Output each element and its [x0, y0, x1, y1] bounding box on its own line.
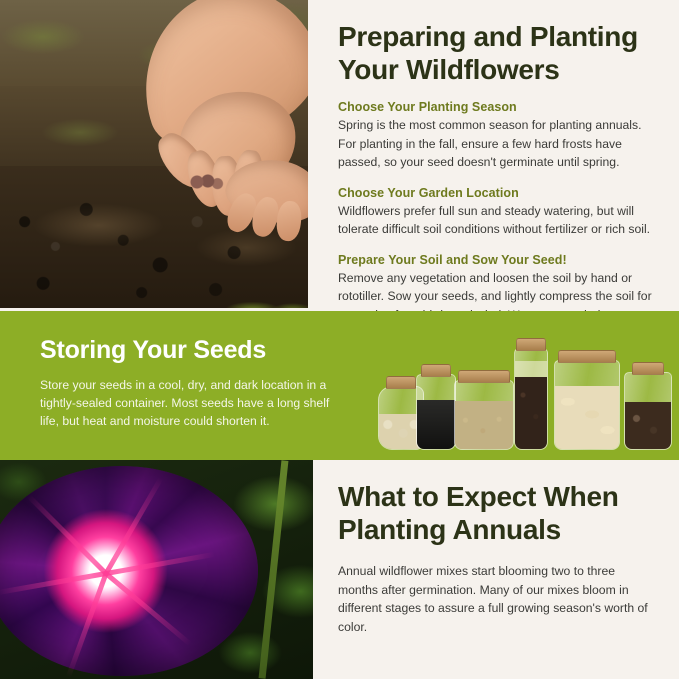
cork-stopper-icon — [516, 338, 546, 351]
seed-jar — [454, 370, 514, 450]
section-what-to-expect: What to Expect When Planting Annuals Ann… — [0, 460, 679, 679]
seed-jar — [514, 338, 548, 450]
subhead-garden-location: Choose Your Garden Location — [338, 186, 655, 200]
seed-jar — [624, 362, 672, 450]
cork-stopper-icon — [632, 362, 664, 375]
body-planting-season: Spring is the most common season for pla… — [338, 116, 655, 172]
petal-ray — [26, 494, 107, 575]
section-storing-your-seeds: Storing Your Seeds Store your seeds in a… — [0, 311, 679, 460]
cork-stopper-icon — [458, 370, 510, 383]
glass-jars-of-seeds-photo — [378, 334, 665, 450]
section-preparing-and-planting: Preparing and Planting Your Wildflowers … — [0, 0, 679, 311]
preparing-text-column: Preparing and Planting Your Wildflowers … — [338, 0, 679, 311]
petal-ray — [66, 573, 108, 678]
expect-text-column: What to Expect When Planting Annuals Ann… — [338, 460, 679, 636]
petal-ray — [0, 571, 106, 595]
hand-sowing-seeds-in-soil-photo — [0, 0, 308, 308]
petal-ray — [104, 572, 191, 647]
cork-stopper-icon — [558, 350, 616, 363]
grass-blades — [0, 284, 308, 308]
storing-title: Storing Your Seeds — [40, 337, 340, 365]
storing-body: Store your seeds in a cool, dry, and dar… — [40, 376, 340, 431]
cork-stopper-icon — [421, 364, 451, 377]
petal-ray — [105, 552, 214, 576]
infographic-page: Preparing and Planting Your Wildflowers … — [0, 0, 679, 679]
purple-morning-glory-flower-photo — [0, 460, 313, 679]
expect-body: Annual wildflower mixes start blooming t… — [338, 562, 655, 636]
seed-jar — [554, 350, 620, 450]
seeds-in-hand — [188, 172, 224, 192]
seed-jar — [416, 364, 456, 450]
preparing-title: Preparing and Planting Your Wildflowers — [338, 20, 655, 86]
storing-text-column: Storing Your Seeds Store your seeds in a… — [40, 337, 340, 430]
cork-stopper-icon — [386, 376, 416, 389]
expect-title: What to Expect When Planting Annuals — [338, 480, 655, 546]
subhead-planting-season: Choose Your Planting Season — [338, 100, 655, 114]
subhead-prepare-soil: Prepare Your Soil and Sow Your Seed! — [338, 253, 655, 267]
body-garden-location: Wildflowers prefer full sun and steady w… — [338, 202, 655, 239]
petal-ray — [104, 477, 163, 575]
